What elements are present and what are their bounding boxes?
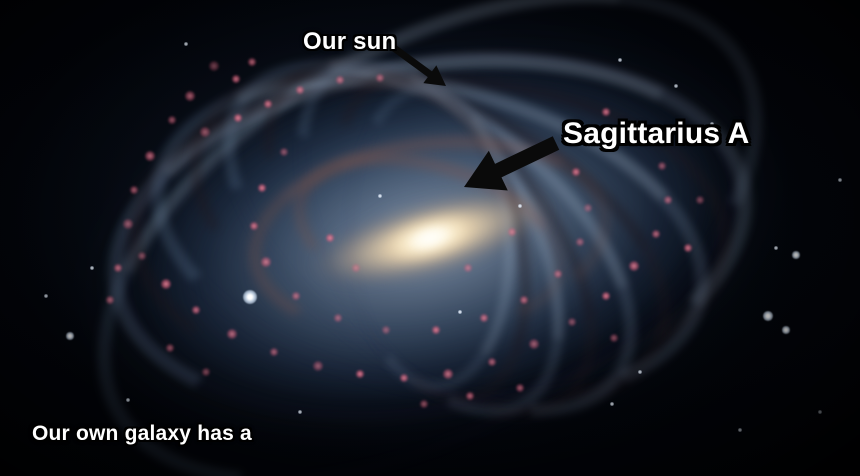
label-sagittarius-a: Sagittarius A — [563, 117, 750, 151]
label-our-sun: Our sun — [303, 28, 396, 56]
galaxy-image-canvas: Our sun Sagittarius A Our own galaxy has… — [0, 0, 860, 476]
galaxy-caption: Our own galaxy has a 4 million solar mas… — [32, 369, 348, 476]
caption-line-1: Our own galaxy has a — [32, 421, 348, 447]
